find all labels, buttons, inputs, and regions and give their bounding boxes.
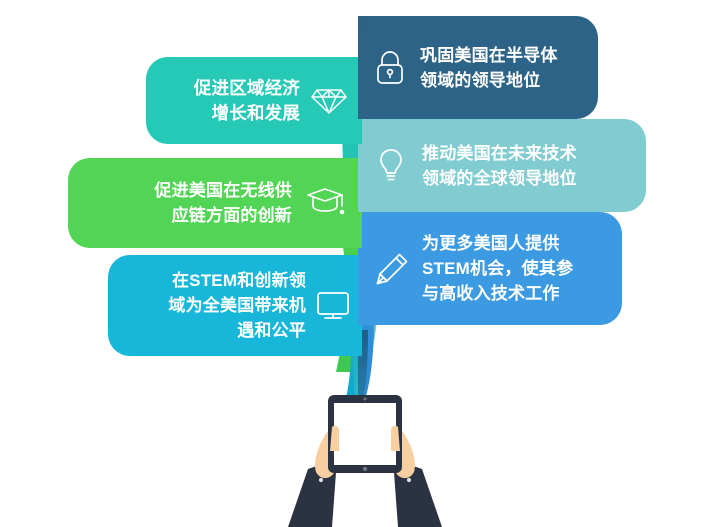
card-wireless-supply-chain[interactable]: 促进美国在无线供 应链方面的创新: [68, 158, 362, 248]
monitor-icon: [316, 290, 350, 322]
card-stem-equity-text: 在STEM和创新领 域为全美国带来机 遇和公平: [168, 268, 306, 343]
lightbulb-icon: [376, 148, 406, 184]
card-stem-equity[interactable]: 在STEM和创新领 域为全美国带来机 遇和公平: [108, 255, 362, 356]
tablet-screen: [334, 403, 396, 465]
card-future-tech-leadership-text: 推动美国在未来技术 领域的全球领导地位: [422, 141, 577, 191]
lock-icon: [374, 50, 406, 86]
card-regional-economy-text: 促进区域经济 增长和发展: [194, 76, 300, 126]
card-wireless-supply-chain-text: 促进美国在无线供 应链方面的创新: [154, 178, 292, 228]
diamond-icon: [310, 86, 348, 116]
graduation-cap-icon: [306, 186, 346, 220]
card-semiconductor-leadership[interactable]: 巩固美国在半导体 领域的领导地位: [358, 16, 598, 119]
pencil-icon: [374, 251, 410, 287]
hands-holding-tablet-illustration: [280, 381, 450, 527]
card-regional-economy[interactable]: 促进区域经济 增长和发展: [146, 57, 362, 144]
tablet-camera: [364, 398, 367, 401]
card-future-tech-leadership[interactable]: 推动美国在未来技术 领域的全球领导地位: [358, 119, 646, 212]
card-stem-opportunity-text: 为更多美国人提供 STEM机会，使其参 与高收入技术工作: [422, 231, 573, 306]
card-semiconductor-leadership-text: 巩固美国在半导体 领域的领导地位: [420, 43, 558, 93]
infographic-canvas: 促进区域经济 增长和发展 促进美国在无线供 应链方面的创新 在STEM和创新领: [0, 0, 720, 527]
tablet-home-button: [363, 467, 367, 471]
card-stem-opportunity[interactable]: 为更多美国人提供 STEM机会，使其参 与高收入技术工作: [358, 212, 622, 325]
